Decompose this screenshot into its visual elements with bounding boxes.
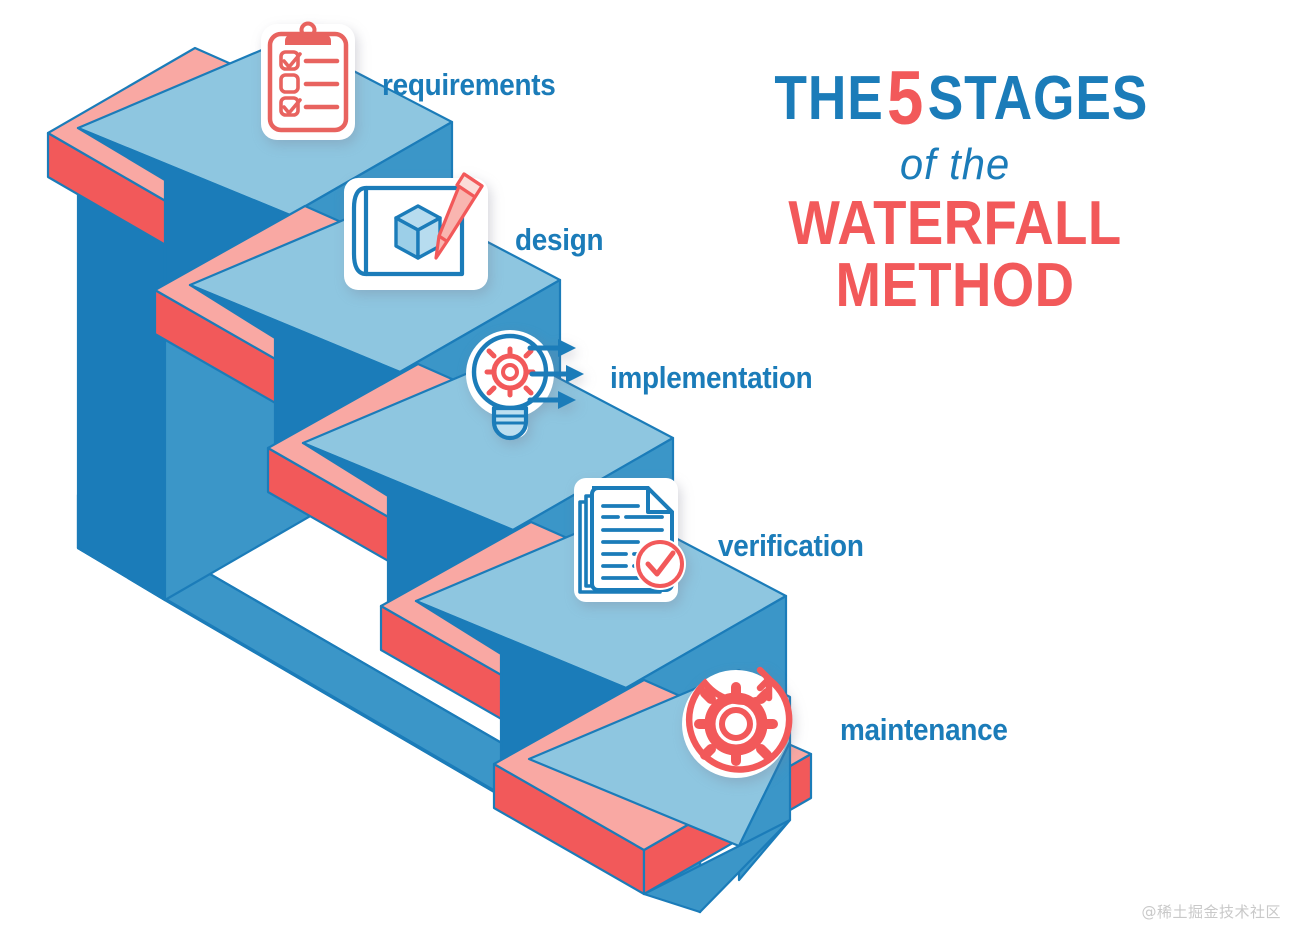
stage-label-maintenance: maintenance xyxy=(840,714,1008,745)
blueprint-pencil-icon xyxy=(340,172,492,296)
lightbulb-gear-arrows-icon xyxy=(458,322,588,450)
infographic-canvas: .topf{fill:#8ec6e0;} .pinkf{fill:#f9a8a3… xyxy=(0,0,1297,936)
watermark-text: @稀土掘金技术社区 xyxy=(1141,901,1281,922)
gear-refresh-icon xyxy=(672,658,800,786)
title-block: THE5STAGES of the WATERFALL METHOD xyxy=(745,62,1165,317)
title-stages: STAGES xyxy=(928,64,1148,133)
documents-checkmark-icon xyxy=(568,472,698,608)
title-line-1: THE5STAGES xyxy=(774,62,1135,136)
stage-label-verification: verification xyxy=(718,530,864,561)
title-number-5: 5 xyxy=(884,56,928,141)
stage-label-implementation: implementation xyxy=(610,362,812,393)
title-the: THE xyxy=(774,64,883,133)
title-line-4-method: METHOD xyxy=(770,255,1140,317)
title-line-3-waterfall: WATERFALL xyxy=(770,193,1140,255)
stage-label-requirements: requirements xyxy=(382,69,556,100)
title-line-2: of the xyxy=(756,142,1155,188)
clipboard-checklist-icon xyxy=(258,16,358,144)
stage-label-design: design xyxy=(515,224,603,255)
